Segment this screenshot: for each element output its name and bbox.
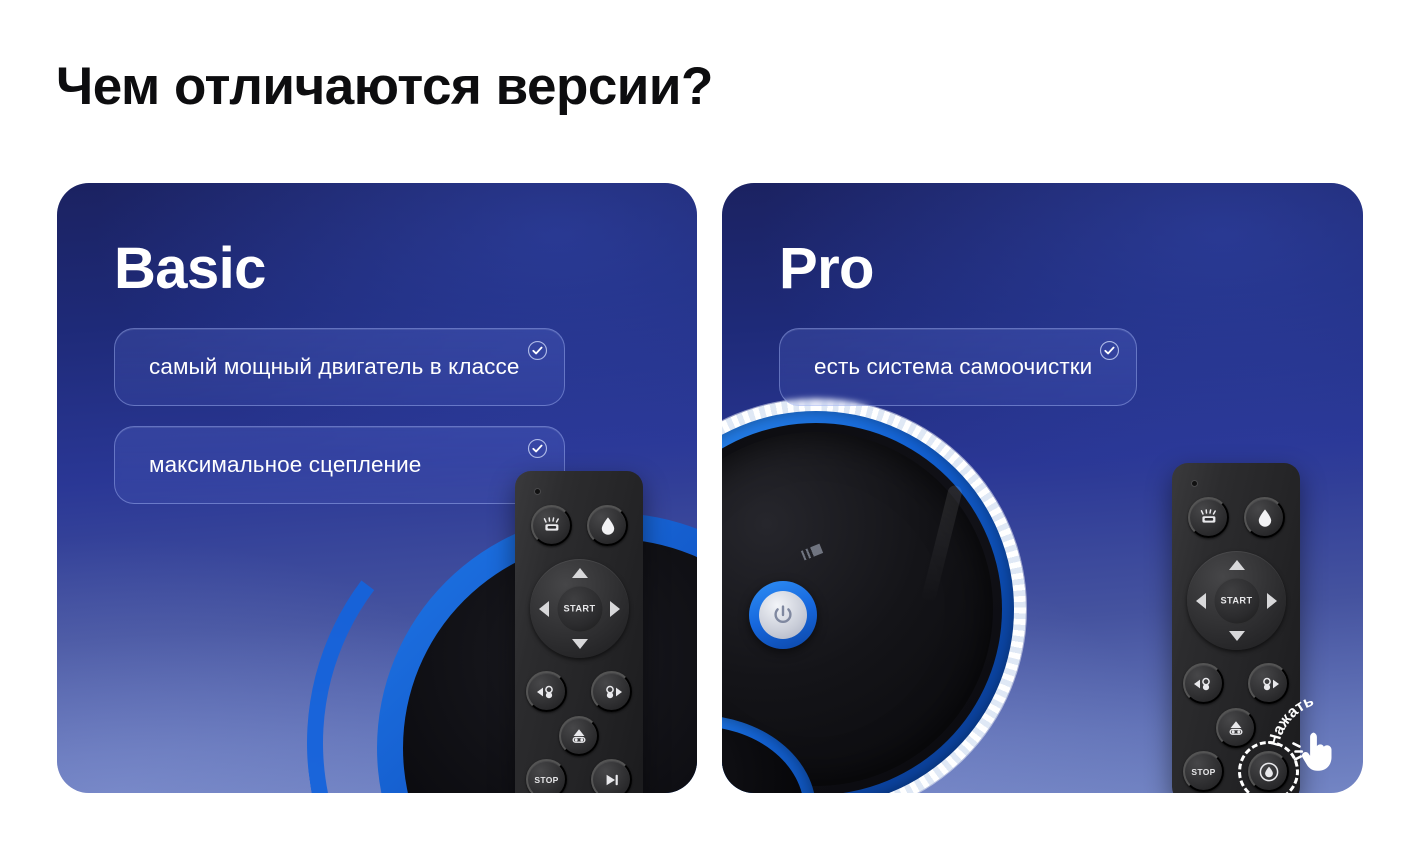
- start-button[interactable]: START: [556, 585, 603, 632]
- water-button[interactable]: [1244, 497, 1285, 538]
- card-title-pro: Pro: [779, 235, 874, 302]
- feature-label: максимальное сцепление: [149, 452, 421, 478]
- dpad[interactable]: START: [1187, 551, 1286, 650]
- turn-left-button[interactable]: [1183, 663, 1224, 704]
- feature-pill[interactable]: есть система самоочистки: [779, 328, 1137, 406]
- arrow-right-icon[interactable]: [610, 601, 620, 617]
- arrow-up-icon[interactable]: [1229, 560, 1245, 570]
- remote-control-pro[interactable]: START: [1172, 463, 1300, 793]
- feature-label: есть система самоочистки: [814, 354, 1092, 380]
- poster-root: Чем отличаются версии? Basic самый мощны…: [0, 0, 1416, 849]
- hand-pointer-icon: [1290, 729, 1336, 773]
- remote-control-basic[interactable]: START: [515, 471, 643, 793]
- brush-button[interactable]: [531, 505, 572, 546]
- page-title: Чем отличаются версии?: [56, 56, 713, 117]
- led-indicator-icon: [534, 488, 541, 495]
- feature-label: самый мощный двигатель в классе: [149, 354, 520, 380]
- arrow-left-icon[interactable]: [539, 601, 549, 617]
- turn-right-button[interactable]: [1248, 663, 1289, 704]
- robot-seam: [921, 484, 964, 604]
- power-button-icon[interactable]: [749, 581, 817, 649]
- stop-button[interactable]: STOP: [1183, 751, 1224, 792]
- check-circle-icon: [527, 340, 548, 361]
- dpad[interactable]: START: [530, 559, 629, 658]
- card-title-basic: Basic: [114, 235, 266, 302]
- brush-button[interactable]: [1188, 497, 1229, 538]
- arrow-up-icon[interactable]: [572, 568, 588, 578]
- card-pro[interactable]: Pro есть система самоочистки: [722, 183, 1363, 793]
- dock-button[interactable]: [1216, 708, 1256, 748]
- arrow-down-icon[interactable]: [572, 639, 588, 649]
- feature-pill[interactable]: максимальное сцепление: [114, 426, 565, 504]
- check-circle-icon: [1099, 340, 1120, 361]
- check-circle-icon: [527, 438, 548, 459]
- comparison-cards: Basic самый мощный двигатель в классе ма…: [0, 183, 1416, 793]
- water-button[interactable]: [587, 505, 628, 546]
- stop-button[interactable]: STOP: [526, 759, 567, 793]
- turn-left-button[interactable]: [526, 671, 567, 712]
- arrow-left-icon[interactable]: [1196, 593, 1206, 609]
- next-button[interactable]: [591, 759, 632, 793]
- led-indicator-icon: [1191, 480, 1198, 487]
- card-basic[interactable]: Basic самый мощный двигатель в классе ма…: [57, 183, 697, 793]
- arrow-down-icon[interactable]: [1229, 631, 1245, 641]
- feature-pill[interactable]: самый мощный двигатель в классе: [114, 328, 565, 406]
- dock-button[interactable]: [559, 716, 599, 756]
- feature-list-basic: самый мощный двигатель в классе максимал…: [114, 328, 565, 524]
- feature-list-pro: есть система самоочистки: [779, 328, 1137, 426]
- turn-right-button[interactable]: [591, 671, 632, 712]
- arrow-right-icon[interactable]: [1267, 593, 1277, 609]
- start-button[interactable]: START: [1213, 577, 1260, 624]
- robot-vacuum-icon: [722, 399, 1026, 793]
